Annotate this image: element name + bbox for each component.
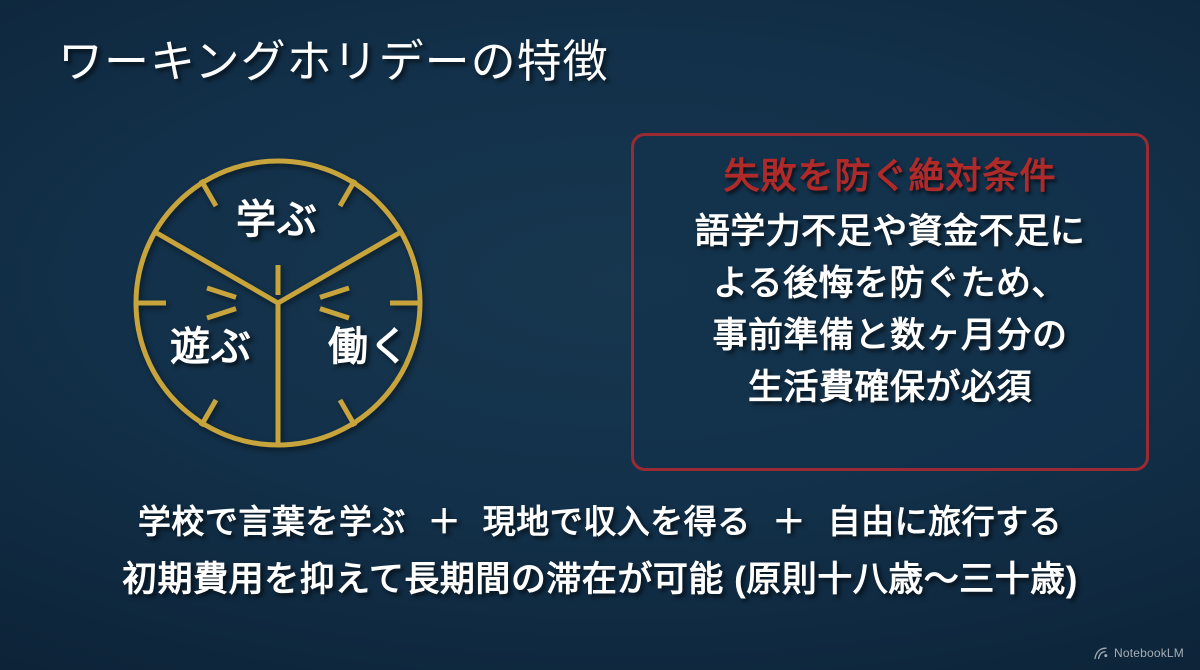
callout-body-line: 生活費確保が必須 <box>634 362 1146 414</box>
formula-part-2: 現地で収入を得る <box>483 503 751 540</box>
notebooklm-watermark: NotebookLM <box>1094 646 1184 660</box>
plus-sign: ＋ <box>760 503 818 540</box>
segment-label-learn: 学ぶ <box>236 198 318 242</box>
footer-line-formula: 学校で言葉を学ぶ ＋ 現地で収入を得る ＋ 自由に旅行する <box>0 497 1200 547</box>
callout-body-line: 事前準備と数ヶ月分の <box>634 310 1146 362</box>
watermark-label: NotebookLM <box>1114 646 1184 660</box>
plus-sign: ＋ <box>416 503 474 540</box>
slide-canvas: ワーキングホリデーの特徴 <box>0 0 1200 670</box>
page-title: ワーキングホリデーの特徴 <box>58 33 609 91</box>
footer-summary: 学校で言葉を学ぶ ＋ 現地で収入を得る ＋ 自由に旅行する 初期費用を抑えて長期… <box>0 497 1200 607</box>
three-segment-circle-diagram: 学ぶ 遊ぶ 働く <box>128 153 428 453</box>
callout-body-line: 語学力不足や資金不足に <box>634 206 1146 258</box>
footer-line-conclusion: 初期費用を抑えて長期間の滞在が可能 (原則十八歳〜三十歳) <box>0 553 1200 607</box>
callout-box: 失敗を防ぐ絶対条件 語学力不足や資金不足に よる後悔を防ぐため、 事前準備と数ヶ… <box>631 133 1149 471</box>
formula-part-3: 自由に旅行する <box>828 503 1063 540</box>
notebooklm-icon <box>1094 647 1109 660</box>
callout-body: 語学力不足や資金不足に よる後悔を防ぐため、 事前準備と数ヶ月分の 生活費確保が… <box>634 206 1146 414</box>
callout-heading: 失敗を防ぐ絶対条件 <box>634 150 1146 202</box>
segment-label-play: 遊ぶ <box>170 325 252 369</box>
callout-body-line: よる後悔を防ぐため、 <box>634 258 1146 310</box>
segment-label-work: 働く <box>328 325 410 369</box>
formula-part-1: 学校で言葉を学ぶ <box>138 503 406 540</box>
